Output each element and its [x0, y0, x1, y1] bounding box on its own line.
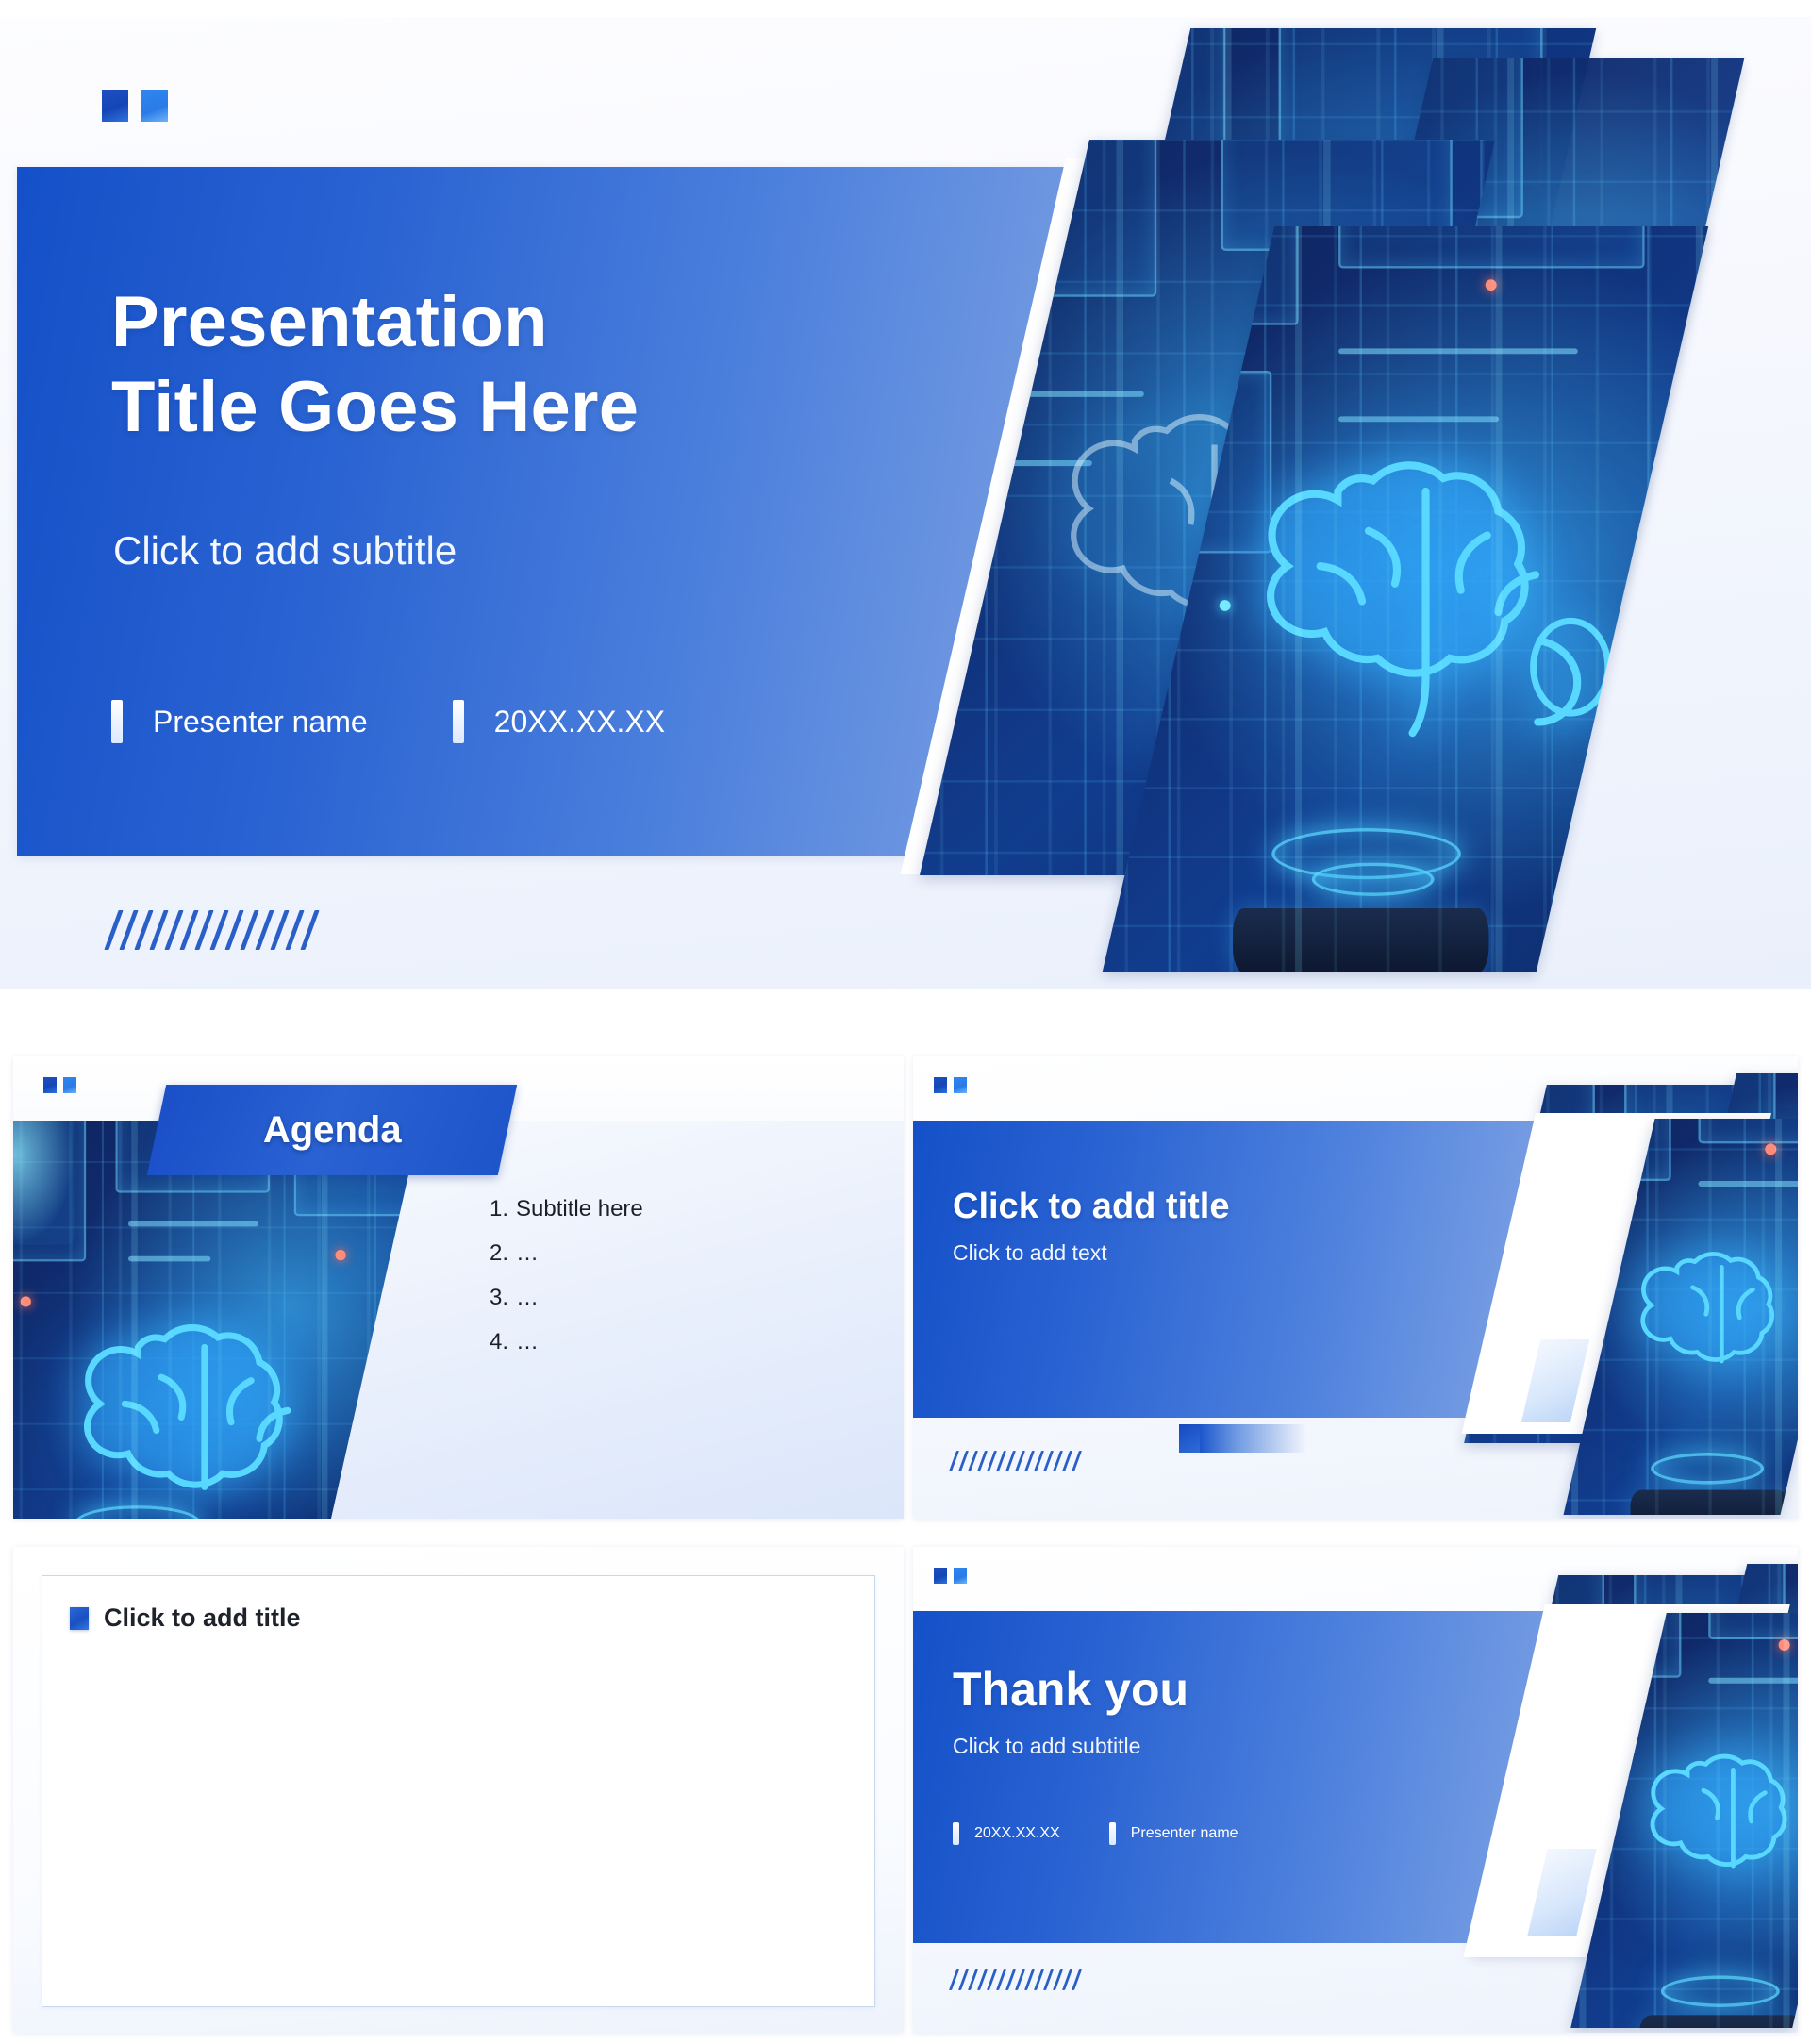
hero-presenter-name: Presenter name	[153, 705, 368, 739]
page-title: PresentationTitle Goes Here	[111, 280, 1017, 449]
agenda-image	[13, 1121, 421, 1519]
bullet-square-icon	[70, 1607, 89, 1630]
brain-hologram-icon	[1205, 347, 1645, 805]
agenda-item-label: …	[516, 1329, 539, 1354]
slide-section-title[interactable]: Click to add title Click to add text	[913, 1056, 1798, 1519]
content-title-placeholder: Click to add title	[104, 1604, 301, 1633]
meta-bar-icon	[111, 700, 123, 743]
slide-agenda[interactable]: Agenda 1.Subtitle here 2.… 3.… 4.…	[13, 1056, 904, 1519]
list-item[interactable]: 2.…	[490, 1240, 643, 1267]
section-text-placeholder[interactable]: Click to add text	[953, 1240, 1107, 1266]
thanks-presenter-item[interactable]: Presenter name	[1109, 1822, 1238, 1845]
brain-hologram-icon	[1619, 1691, 1798, 1937]
thanks-slash-decoration	[953, 1969, 1078, 1990]
thanks-subtitle-placeholder[interactable]: Click to add subtitle	[953, 1734, 1140, 1759]
brand-logo-mark	[934, 1568, 967, 1584]
section-blue-panel	[913, 1121, 1620, 1418]
meta-bar-icon	[953, 1822, 959, 1845]
hero-date-item[interactable]: 20XX.XX.XX	[453, 700, 665, 743]
meta-bar-icon	[453, 700, 464, 743]
brand-logo-mark	[934, 1077, 967, 1093]
brain-hologram-icon	[39, 1273, 371, 1519]
agenda-banner: Agenda	[147, 1085, 517, 1175]
logo-square-light-icon	[954, 1568, 967, 1584]
agenda-item-number: 1.	[490, 1196, 508, 1221]
agenda-item-label: …	[516, 1240, 539, 1266]
hero-title-line2: Title Goes Here	[111, 367, 639, 447]
logo-square-dark-icon	[934, 1077, 947, 1093]
thanks-date: 20XX.XX.XX	[974, 1825, 1060, 1842]
thanks-title: Thank you	[953, 1662, 1188, 1717]
brand-logo-mark	[102, 90, 168, 122]
hero-date: 20XX.XX.XX	[494, 705, 665, 739]
logo-square-light-icon	[954, 1077, 967, 1093]
brain-hologram-icon	[1609, 1193, 1798, 1428]
thanks-date-item[interactable]: 20XX.XX.XX	[953, 1822, 1060, 1845]
xray-thumbnail-icon	[13, 1121, 75, 1244]
agenda-list: 1.Subtitle here 2.… 3.… 4.…	[490, 1196, 643, 1373]
thanks-meta-row: 20XX.XX.XX Presenter name	[953, 1822, 1238, 1845]
hero-presenter-item[interactable]: Presenter name	[111, 700, 368, 743]
logo-square-light-icon	[141, 90, 168, 122]
thanks-blue-panel	[913, 1611, 1630, 1943]
brand-logo-mark	[43, 1077, 76, 1093]
logo-square-light-icon	[63, 1077, 76, 1093]
slide-thank-you[interactable]: Thank you Click to add subtitle 20XX.XX.…	[913, 1547, 1798, 2033]
agenda-item-number: 3.	[490, 1285, 508, 1310]
agenda-item-label: Subtitle here	[516, 1196, 643, 1221]
agenda-item-number: 2.	[490, 1240, 508, 1266]
agenda-item-number: 4.	[490, 1329, 508, 1354]
hero-slash-decoration	[111, 910, 312, 950]
agenda-item-label: …	[516, 1285, 539, 1310]
slide-title-hero[interactable]: PresentationTitle Goes Here Click to add…	[0, 0, 1811, 1014]
hero-subtitle-placeholder[interactable]: Click to add subtitle	[113, 528, 457, 573]
slide-content-blank[interactable]: Click to add title	[13, 1547, 904, 2033]
section-gradient-bar	[1179, 1424, 1306, 1453]
agenda-banner-label: Agenda	[263, 1109, 402, 1152]
presentation-template-sheet: PresentationTitle Goes Here Click to add…	[0, 0, 1811, 2044]
content-title-row[interactable]: Click to add title	[70, 1604, 301, 1633]
section-title-placeholder[interactable]: Click to add title	[953, 1187, 1229, 1227]
hero-meta-row: Presenter name 20XX.XX.XX	[111, 700, 665, 743]
section-slash-decoration	[953, 1451, 1078, 1471]
content-white-box[interactable]	[42, 1575, 875, 2007]
hero-title-line1: Presentation	[111, 282, 548, 362]
thanks-presenter-name: Presenter name	[1131, 1825, 1238, 1842]
logo-square-dark-icon	[102, 90, 128, 122]
list-item[interactable]: 3.…	[490, 1285, 643, 1311]
list-item[interactable]: 1.Subtitle here	[490, 1196, 643, 1222]
logo-square-dark-icon	[934, 1568, 947, 1584]
list-item[interactable]: 4.…	[490, 1329, 643, 1355]
meta-bar-icon	[1109, 1822, 1116, 1845]
logo-square-dark-icon	[43, 1077, 57, 1093]
